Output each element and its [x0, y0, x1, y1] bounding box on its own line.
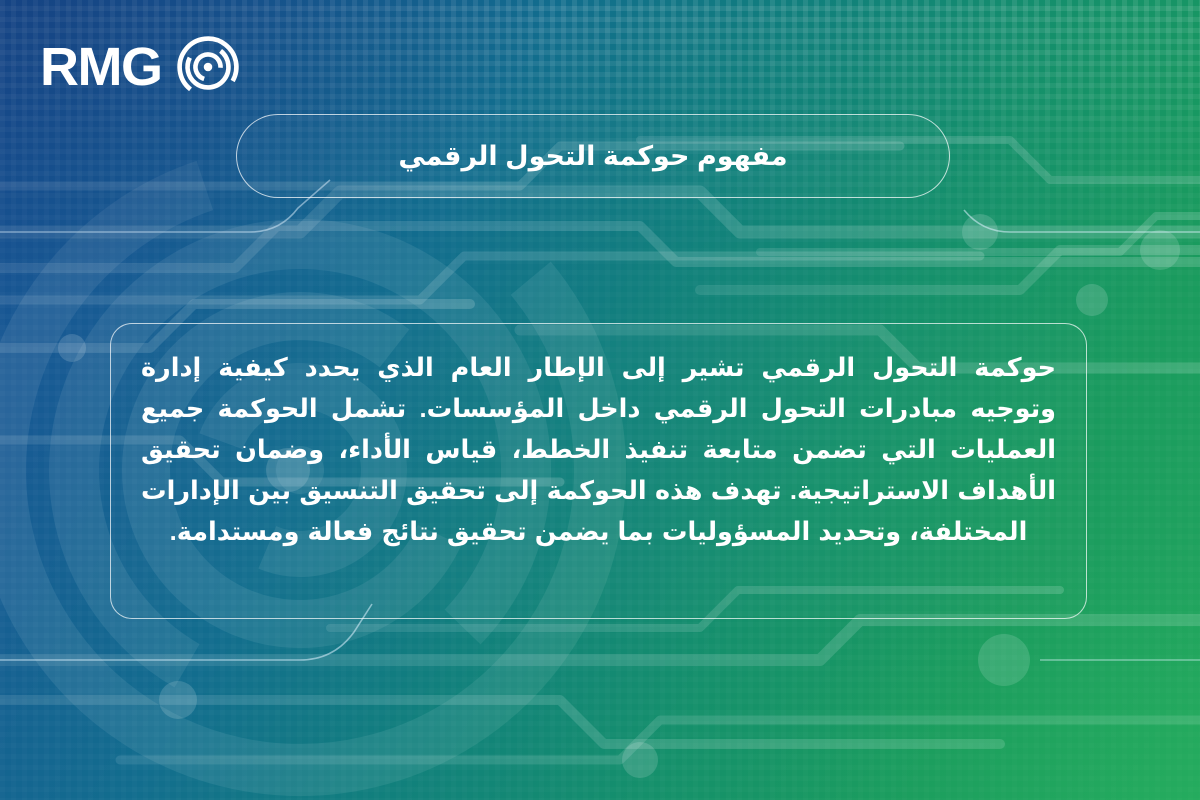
logo-center-dot [204, 63, 213, 72]
slide-canvas: RMG مفهوم حوكمة التحول الرقمي حوكمة التح… [0, 0, 1200, 800]
body-paragraph: حوكمة التحول الرقمي تشير إلى الإطار العا… [141, 348, 1056, 553]
rmg-spiral-logo-icon [175, 34, 241, 100]
body-card: حوكمة التحول الرقمي تشير إلى الإطار العا… [110, 323, 1087, 619]
brand-logo: RMG [40, 34, 241, 100]
title-card: مفهوم حوكمة التحول الرقمي [236, 114, 950, 198]
page-title: مفهوم حوكمة التحول الرقمي [398, 141, 787, 172]
brand-wordmark: RMG [40, 40, 161, 94]
